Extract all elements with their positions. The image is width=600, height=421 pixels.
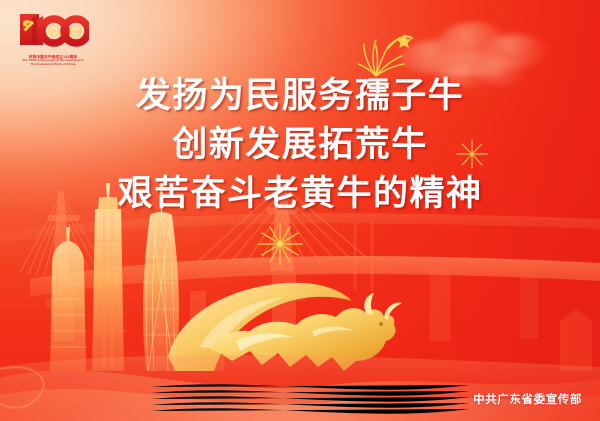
svg-text:1921: 1921 [49,30,59,34]
emblem-mark: 1921 2021 [17,11,89,49]
svg-text:2021: 2021 [71,30,81,34]
emblem-caption: 庆祝中国共产党成立100周年 The 100th Anniversary of … [17,55,89,67]
emblem-caption-cn: 庆祝中国共产党成立100周年 [16,55,89,59]
city-illustration [0,171,600,421]
firework-burst-mid [256,222,304,266]
emblem-caption-en-line2: The Communist Party of China [17,63,89,67]
firework-burst-top [358,28,414,80]
cloud-decoration-small [430,52,550,92]
poster-canvas: 1921 2021 庆祝中国共产党成立100周年 The 100th Anniv… [0,0,600,421]
attribution-text: 中共广东省委宣传部 [473,391,582,407]
firework-burst-small [455,138,489,170]
cpc-100th-anniversary-emblem: 1921 2021 庆祝中国共产党成立100周年 The 100th Anniv… [17,11,89,66]
